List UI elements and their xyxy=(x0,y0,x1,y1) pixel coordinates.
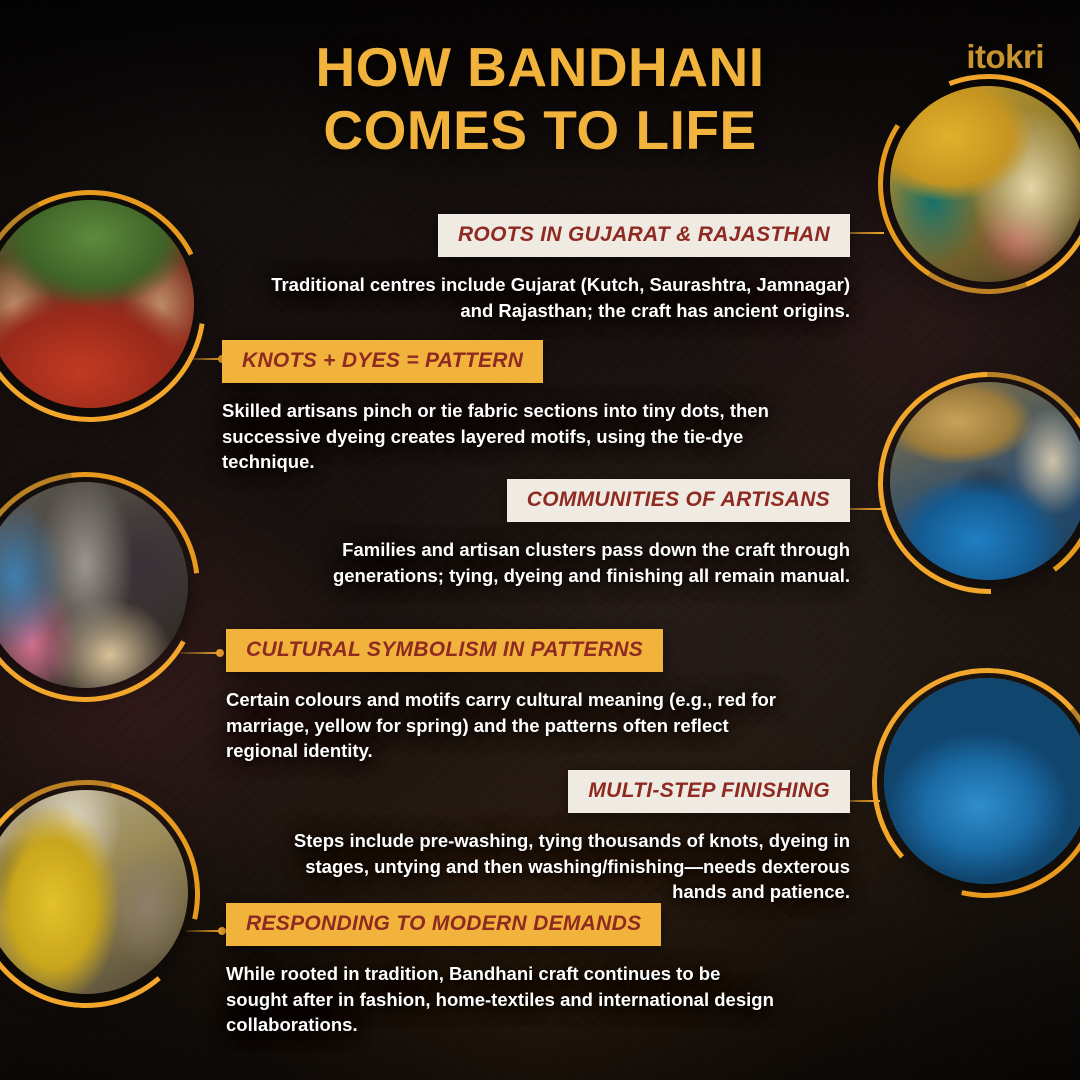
section-heading-3: COMMUNITIES OF ARTISANS xyxy=(507,479,850,522)
title-line-1: HOW BANDHANI xyxy=(0,36,1080,99)
itokri-logo: itokri xyxy=(966,38,1044,76)
section-body-5: Steps include pre-washing, tying thousan… xyxy=(250,828,850,905)
section-responding-to-modern-demands: RESPONDING TO MODERN DEMANDS While roote… xyxy=(226,903,786,1038)
photo-artisan-dyeing-tub xyxy=(890,382,1080,580)
title-line-2: COMES TO LIFE xyxy=(0,99,1080,162)
section-cultural-symbolism-in-patterns: CULTURAL SYMBOLISM IN PATTERNS Certain c… xyxy=(226,629,786,764)
section-heading-5: MULTI-STEP FINISHING xyxy=(568,770,850,813)
logo-text: itokri xyxy=(966,38,1044,75)
section-heading-6: RESPONDING TO MODERN DEMANDS xyxy=(226,903,661,946)
section-knots-dyes-pattern: KNOTS + DYES = PATTERN Skilled artisans … xyxy=(222,340,782,475)
section-body-3: Families and artisan clusters pass down … xyxy=(230,537,850,588)
photo-dye-vat-blue-image xyxy=(884,678,1080,884)
section-body-1: Traditional centres include Gujarat (Kut… xyxy=(250,272,850,323)
section-heading-4: CULTURAL SYMBOLISM IN PATTERNS xyxy=(226,629,663,672)
infographic-poster: itokri HOW BANDHANI COMES TO LIFE ROO xyxy=(0,0,1080,1080)
section-multi-step-finishing: MULTI-STEP FINISHING Steps include pre-w… xyxy=(250,770,850,905)
section-heading-2: KNOTS + DYES = PATTERN xyxy=(222,340,543,383)
section-body-2: Skilled artisans pinch or tie fabric sec… xyxy=(222,398,782,475)
section-communities-of-artisans: COMMUNITIES OF ARTISANS Families and art… xyxy=(230,479,850,588)
photo-dyer-lifting-yellow xyxy=(0,790,188,994)
photo-women-artisans-tying xyxy=(0,482,188,688)
connector-line-4 xyxy=(180,652,220,654)
page-title: HOW BANDHANI COMES TO LIFE xyxy=(0,36,1080,161)
section-roots-in-gujarat-rajasthan: ROOTS IN GUJARAT & RAJASTHAN Traditional… xyxy=(250,214,850,323)
section-body-4: Certain colours and motifs carry cultura… xyxy=(226,687,786,764)
photo-women-artisans-tying-image xyxy=(0,482,188,688)
section-body-6: While rooted in tradition, Bandhani craf… xyxy=(226,961,786,1038)
connector-line-6 xyxy=(186,930,222,932)
photo-dyer-lifting-yellow-image xyxy=(0,790,188,994)
section-heading-1: ROOTS IN GUJARAT & RAJASTHAN xyxy=(438,214,850,257)
photo-artisan-dyeing-tub-image xyxy=(890,382,1080,580)
photo-hands-tying-red-fabric-image xyxy=(0,200,194,408)
connector-line-2 xyxy=(190,358,222,360)
photo-hands-tying-red-fabric xyxy=(0,200,194,408)
photo-dye-vat-blue xyxy=(884,678,1080,884)
